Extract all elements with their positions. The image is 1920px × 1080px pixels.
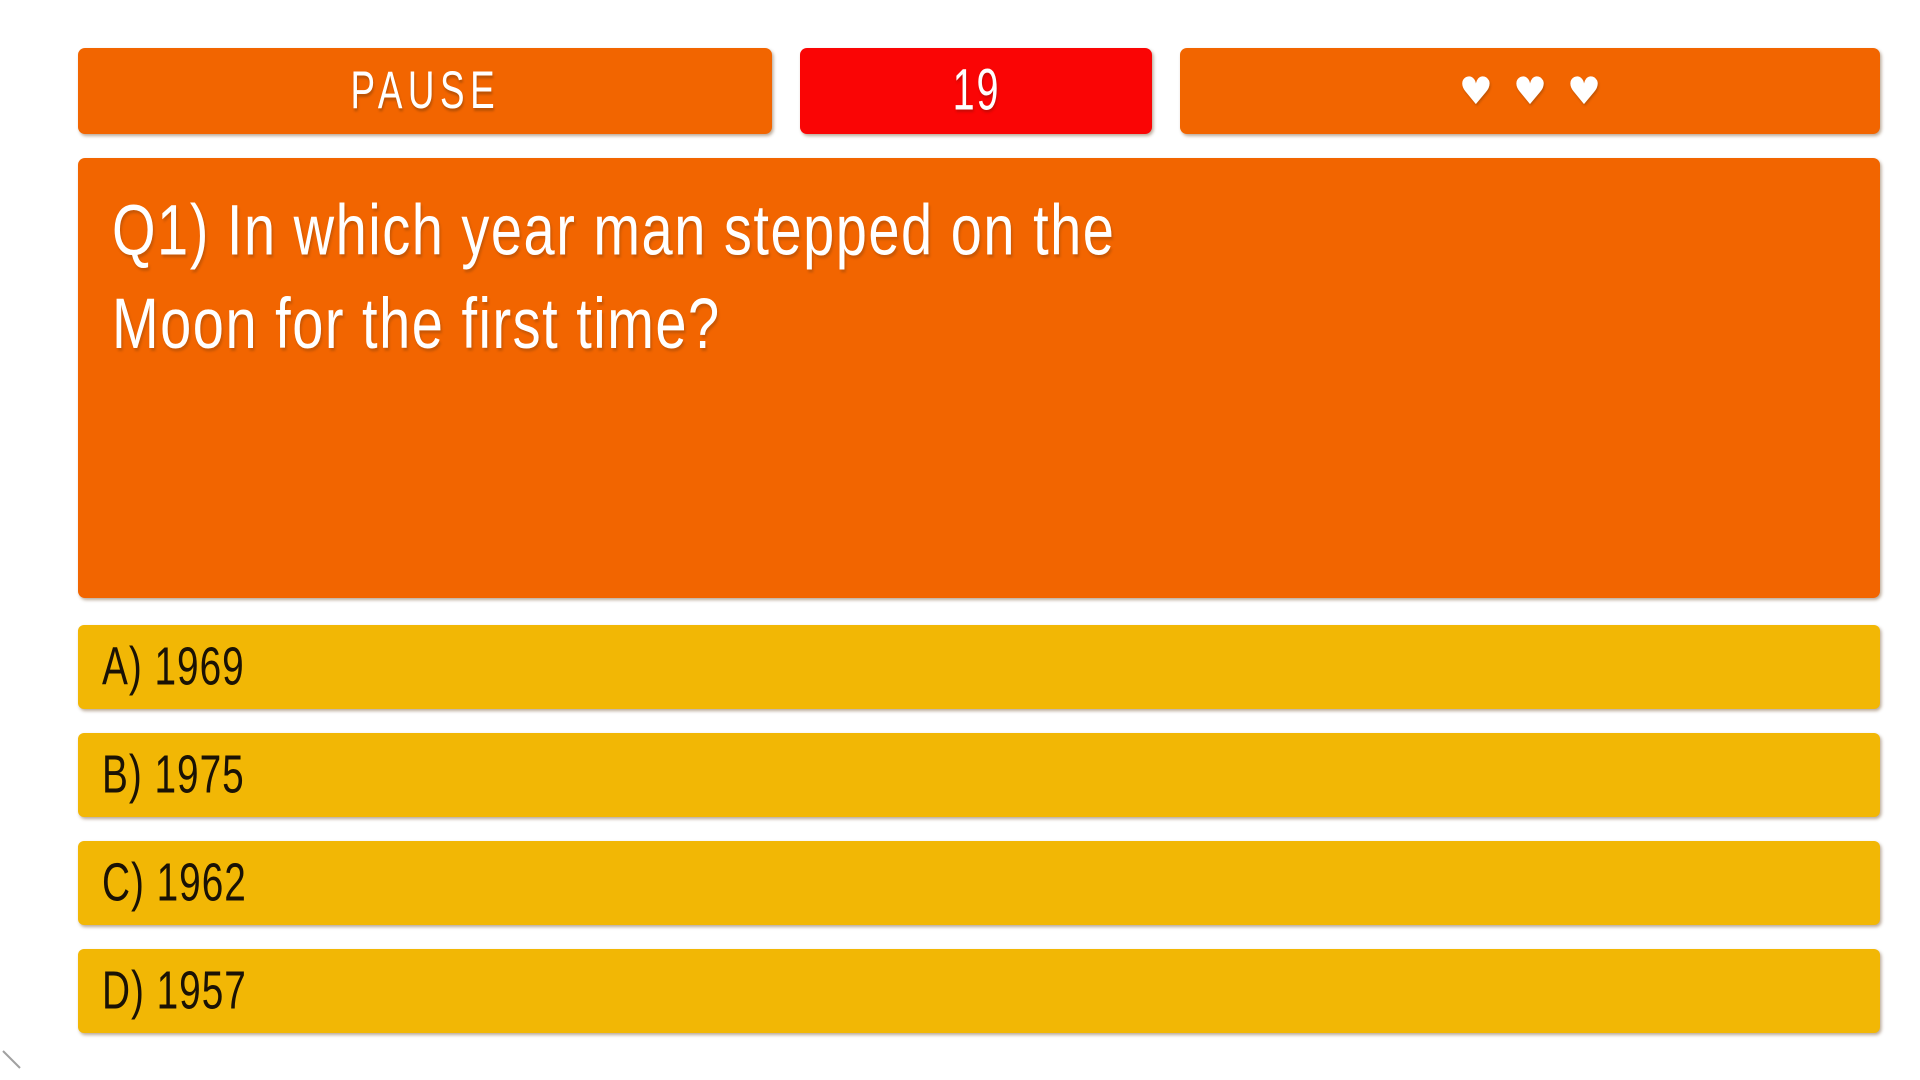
question-panel: Q1) In which year man stepped on the Moo… xyxy=(78,158,1880,598)
answer-option-d-label: D) 1957 xyxy=(102,964,247,1018)
timer-value: 19 xyxy=(952,62,1000,120)
question-text: Q1) In which year man stepped on the Moo… xyxy=(112,184,1846,370)
pause-button[interactable]: PAUSE xyxy=(78,48,772,134)
cursor-arrow-icon xyxy=(2,1050,28,1076)
answer-option-d[interactable]: D) 1957 xyxy=(78,949,1880,1033)
pause-button-label: PAUSE xyxy=(350,65,500,118)
answer-option-c[interactable]: C) 1962 xyxy=(78,841,1880,925)
lives-hearts: ♥ ♥ ♥ xyxy=(1459,72,1601,110)
answer-option-b-label: B) 1975 xyxy=(102,748,245,802)
answer-option-a-label: A) 1969 xyxy=(102,640,245,694)
answer-option-c-label: C) 1962 xyxy=(102,856,247,910)
heart-icon: ♥ xyxy=(1513,72,1547,110)
quiz-screen: PAUSE 19 ♥ ♥ ♥ Q1) In which year man ste… xyxy=(0,0,1920,1080)
answer-option-a[interactable]: A) 1969 xyxy=(78,625,1880,709)
timer-panel: 19 xyxy=(800,48,1152,134)
heart-icon: ♥ xyxy=(1459,72,1493,110)
top-bar: PAUSE 19 ♥ ♥ ♥ xyxy=(0,0,1920,140)
lives-panel: ♥ ♥ ♥ xyxy=(1180,48,1880,134)
heart-icon: ♥ xyxy=(1567,72,1601,110)
answer-option-b[interactable]: B) 1975 xyxy=(78,733,1880,817)
